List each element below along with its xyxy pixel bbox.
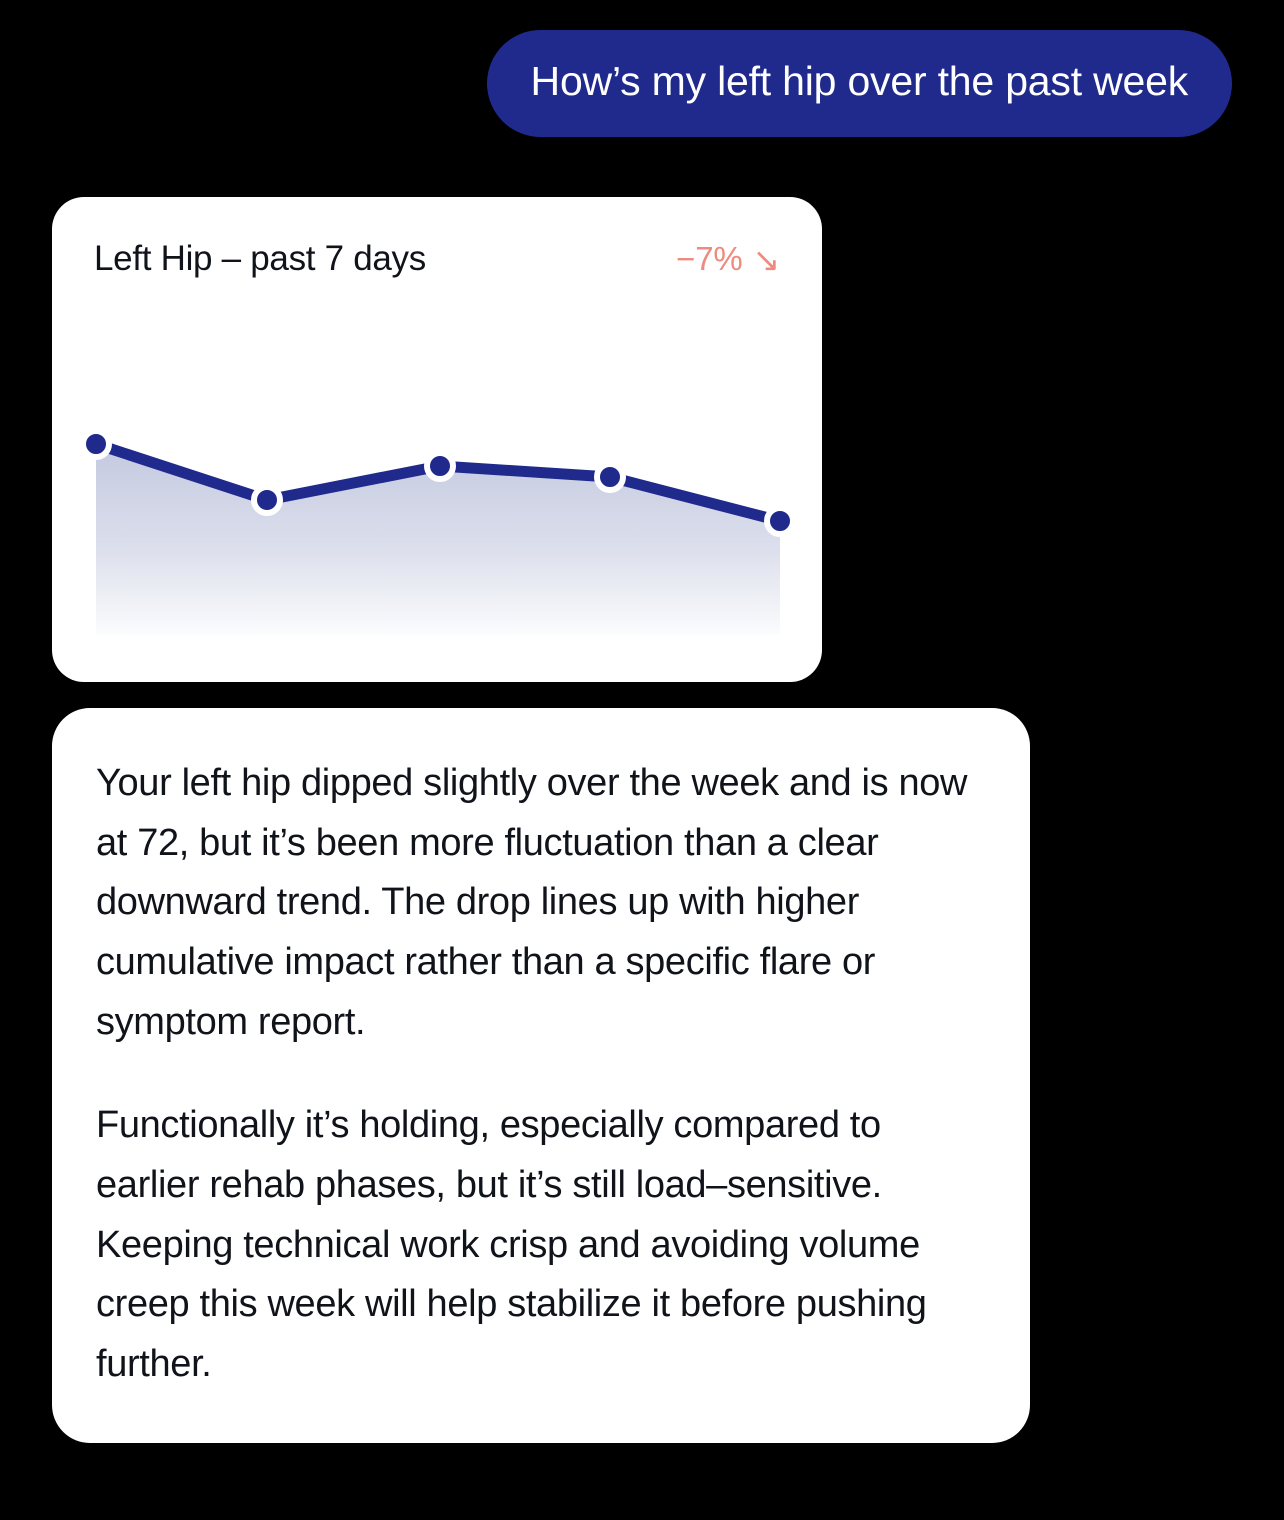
chart-data-point[interactable] [767,508,793,534]
chat-screen: How’s my left hip over the past week Lef… [0,0,1284,1520]
chart-data-point[interactable] [597,464,623,490]
assistant-paragraph-2: Functionally it’s holding, especially co… [96,1096,986,1394]
sparkline-chart [52,197,822,682]
assistant-message-bubble[interactable]: Your left hip dipped slightly over the w… [52,708,1030,1443]
user-message-row: How’s my left hip over the past week [0,30,1284,137]
chart-data-point[interactable] [427,453,453,479]
chart-data-point[interactable] [254,487,280,513]
left-hip-chart-card[interactable]: Left Hip – past 7 days −7% ↘ [52,197,822,682]
chart-data-point[interactable] [83,431,109,457]
user-message-bubble[interactable]: How’s my left hip over the past week [487,30,1232,137]
assistant-paragraph-1: Your left hip dipped slightly over the w… [96,754,986,1052]
